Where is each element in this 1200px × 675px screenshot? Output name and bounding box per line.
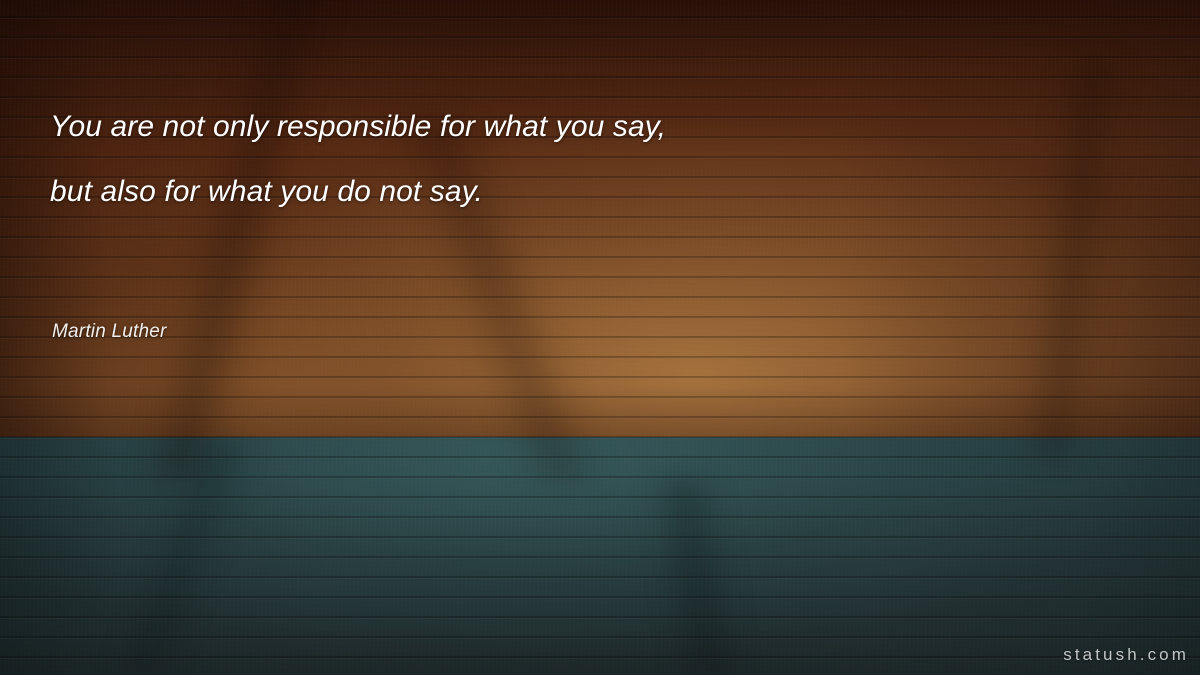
background-brown-vignette xyxy=(0,0,1200,437)
site-watermark: statush.com xyxy=(1063,645,1189,665)
quote-author: Martin Luther xyxy=(52,321,167,343)
quote-card: You are not only responsible for what yo… xyxy=(0,0,1200,675)
quote-line-1: You are not only responsible for what yo… xyxy=(50,112,1140,142)
quote-text-block: You are not only responsible for what yo… xyxy=(50,112,1140,207)
background-teal-vignette xyxy=(0,437,1200,675)
quote-line-2: but also for what you do not say. xyxy=(50,177,1140,207)
